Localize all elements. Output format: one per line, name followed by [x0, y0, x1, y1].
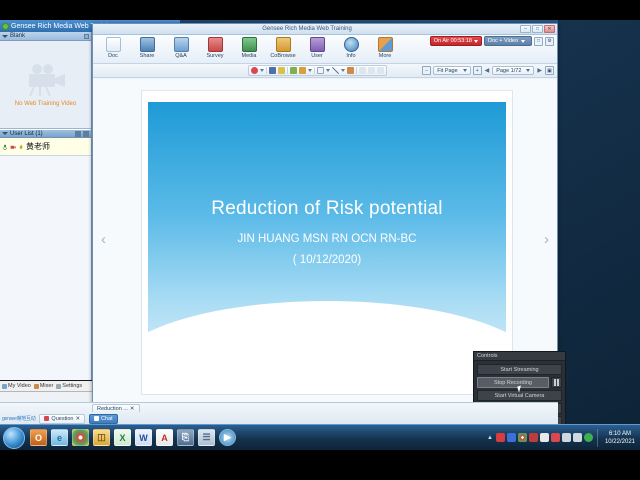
slide-date: ( 10/12/2020) [148, 254, 506, 266]
settings-dock-icon [56, 384, 61, 389]
toolbar-item-survey[interactable]: Survey [198, 36, 232, 59]
text-icon[interactable] [299, 67, 306, 74]
toolbar-label-info: Info [346, 53, 355, 59]
chat-tab-label: Chat [101, 416, 113, 422]
highlighter-icon[interactable] [278, 67, 285, 74]
prev-page-button[interactable]: ◀ [484, 67, 491, 74]
zoom-select[interactable]: Fit Page [433, 66, 470, 75]
hand-raise-icon[interactable] [18, 144, 24, 150]
mic-icon[interactable] [2, 144, 8, 150]
zoom-select-value: Fit Page [437, 68, 457, 74]
camera-icon[interactable] [10, 144, 16, 150]
pointer-icon[interactable] [251, 67, 258, 74]
toolbar-item-doc[interactable]: Doc [96, 36, 130, 59]
obs-dock-mixer[interactable]: Mixer [34, 383, 53, 389]
presentation-slide: Reduction of Risk potential JIN HUANG MS… [148, 102, 506, 357]
eraser-icon[interactable] [290, 67, 297, 74]
clock-date: 10/22/2021 [605, 438, 635, 446]
toolbar-label-qa: Q&A [175, 53, 187, 59]
media-player-icon[interactable]: ▶ [219, 429, 236, 446]
clock[interactable]: 6:10 AM 10/22/2021 [602, 430, 638, 446]
on-air-badge[interactable]: On Air 00:53:18 [430, 36, 482, 46]
user-list-header[interactable]: User List (1) [0, 129, 91, 138]
toolbar-item-media[interactable]: Media [232, 36, 266, 59]
close-button[interactable]: ✕ [544, 25, 555, 33]
clear-icon[interactable] [377, 67, 384, 74]
chevron-down-icon [474, 40, 478, 43]
more-grid-icon [378, 37, 393, 52]
skype-icon[interactable] [584, 433, 593, 442]
main-window-titlebar[interactable]: Gensee Rich Media Web Training – □ ✕ [93, 24, 557, 35]
cobrowse-icon [276, 37, 291, 52]
pen-icon[interactable] [269, 67, 276, 74]
chevron-down-icon [463, 69, 467, 72]
toolbar-label-cobrowse: CoBrowse [270, 53, 295, 59]
question-tab-label: Question [51, 416, 73, 422]
volume-icon[interactable] [573, 433, 582, 442]
user-name-label: 黄老师 [26, 141, 50, 152]
layout-select[interactable]: Doc + Video [484, 36, 532, 46]
toolbar-item-more[interactable]: More [368, 36, 402, 59]
mixer-dock-icon [34, 384, 39, 389]
network-icon[interactable] [562, 433, 571, 442]
obs-tray-icon[interactable] [529, 433, 538, 442]
internet-explorer-icon[interactable]: e [51, 429, 68, 446]
blank-panel-header[interactable]: Blank [0, 32, 91, 41]
bluetooth-icon[interactable] [507, 433, 516, 442]
slide-next-chevron[interactable]: › [544, 231, 549, 248]
minimize-icon[interactable] [84, 34, 89, 39]
start-streaming-button[interactable]: Start Streaming [477, 364, 562, 375]
arrow-icon[interactable] [347, 67, 354, 74]
toolbar-item-user[interactable]: User [300, 36, 334, 59]
blank-panel-label: Blank [10, 33, 25, 39]
app-tray-icon[interactable] [551, 433, 560, 442]
outlook-icon[interactable]: O [30, 429, 47, 446]
slide-prev-chevron[interactable]: ‹ [101, 231, 106, 248]
media-play-icon [242, 37, 257, 52]
letterbox-top [0, 0, 640, 20]
info-icon [344, 37, 359, 52]
obs-dock-strip: My Video Mixer Settings [0, 380, 92, 402]
toolbar-item-share[interactable]: Share [130, 36, 164, 59]
obs-dock-mixer-label: Mixer [40, 383, 53, 389]
toolbar-label-share: Share [140, 53, 155, 59]
close-icon[interactable]: ✕ [75, 416, 80, 422]
gensee-tray-icon[interactable] [540, 433, 549, 442]
gensee-main-window: Gensee Rich Media Web Training – □ ✕ Doc… [92, 23, 558, 407]
toolbar-label-more: More [379, 53, 392, 59]
toolbar-item-cobrowse[interactable]: CoBrowse [266, 36, 300, 59]
divider [266, 67, 267, 74]
obs-dock-settings-label: Settings [62, 383, 82, 389]
desktop-right-region [558, 20, 640, 424]
toolbar-item-info[interactable]: Info [334, 36, 368, 59]
divider [356, 67, 357, 74]
user-list-row[interactable]: 黄老师 [0, 138, 91, 156]
page-select-value: Page 1/72 [496, 68, 521, 74]
main-window-title: Gensee Rich Media Web Training [95, 26, 519, 32]
clock-time: 6:10 AM [605, 430, 635, 438]
share-screen-icon [140, 37, 155, 52]
pause-icon [557, 379, 559, 386]
pause-recording-button[interactable] [551, 377, 562, 388]
document-page: Reduction of Risk potential JIN HUANG MS… [141, 90, 513, 395]
file-explorer-icon[interactable]: ◫ [93, 429, 110, 446]
no-video-label: No Web Training Video [15, 101, 76, 107]
document-icon [106, 37, 121, 52]
left-panel-empty-area [0, 156, 91, 396]
user-icon [310, 37, 325, 52]
pause-icon [554, 379, 556, 386]
obs-dock-my-video[interactable]: My Video [2, 383, 31, 389]
left-panel: Blank No Web Training Video User List (1… [0, 32, 92, 410]
fullscreen-icon[interactable]: □ [534, 37, 543, 46]
printer-icon[interactable]: ⎘ [177, 429, 194, 446]
gensee-logo-text: gensee [2, 416, 17, 422]
chat-tab[interactable]: Chat [89, 414, 118, 424]
on-air-label: On Air 00:53:18 [434, 38, 472, 44]
status-cluster: On Air 00:53:18 Doc + Video □ ⚙ [430, 36, 554, 46]
gensee-logo-icon [2, 23, 9, 30]
chevron-down-icon[interactable] [341, 69, 345, 72]
page-select[interactable]: Page 1/72 [492, 66, 534, 75]
main-toolbar: Doc Share Q&A Survey Media CoBrowse [93, 35, 557, 64]
toolbar-item-qa[interactable]: Q&A [164, 36, 198, 59]
obs-controls-title: Controls [474, 352, 565, 361]
chevron-down-icon [2, 132, 8, 135]
slide-author: JIN HUANG MSN RN OCN RN-BC [148, 233, 506, 245]
chevron-down-icon[interactable] [308, 69, 312, 72]
stop-recording-button[interactable]: Stop Recording [477, 377, 549, 388]
divider [314, 67, 315, 74]
system-tray: ▲ 6:10 AM 10/22/2021 [486, 425, 640, 451]
show-hidden-icons-button[interactable]: ▲ [486, 435, 494, 441]
gensee-logo-sub: 席地互动 [17, 416, 36, 422]
slide-title: Reduction of Risk potential [148, 198, 506, 220]
line-icon[interactable] [332, 67, 339, 74]
zoom-page-cluster: − Fit Page + ◀ Page 1/72 ▶ ▣ [422, 65, 554, 76]
survey-chart-icon [208, 37, 223, 52]
letterbox-bottom [0, 450, 640, 480]
obs-dock-settings[interactable]: Settings [56, 383, 82, 389]
video-camera-icon [24, 62, 68, 98]
zoom-in-icon[interactable]: + [473, 66, 482, 75]
layout-select-value: Doc + Video [488, 38, 518, 44]
divider [287, 67, 288, 74]
slide-wave-front [148, 301, 506, 357]
next-page-button[interactable]: ▶ [536, 67, 543, 74]
question-tab[interactable]: Question ✕ [39, 414, 85, 424]
chevron-down-icon [526, 69, 530, 72]
document-tab-strip: Reduction ... ✕ [92, 403, 140, 412]
maximize-button[interactable]: □ [532, 25, 543, 33]
undo-icon[interactable] [359, 67, 366, 74]
notepad-icon[interactable]: ☰ [198, 429, 215, 446]
toolbar-label-user: User [311, 53, 323, 59]
document-toolbar: − Fit Page + ◀ Page 1/72 ▶ ▣ [93, 64, 557, 78]
screen-root: Gensee Rich Media Web Training Blank No … [0, 0, 640, 480]
minimize-button[interactable]: – [520, 25, 531, 33]
word-icon[interactable]: W [135, 429, 152, 446]
user-list-label: User List (1) [10, 131, 43, 137]
divider [597, 429, 598, 447]
chevron-down-icon [2, 35, 8, 38]
gensee-bottom-bar: Reduction ... ✕ gensee席地互动 Question ✕ Ch… [0, 402, 558, 424]
invite-user-icon[interactable] [75, 131, 81, 137]
video-dock-icon [2, 384, 7, 389]
acrobat-icon[interactable]: A [156, 429, 173, 446]
document-tab-reduction[interactable]: Reduction ... ✕ [92, 404, 140, 412]
chevron-down-icon[interactable] [326, 69, 330, 72]
chat-icon [94, 416, 99, 421]
qa-icon [174, 37, 189, 52]
toolbar-label-doc: Doc [108, 53, 118, 59]
question-icon [44, 416, 49, 421]
chrome-icon[interactable] [72, 429, 89, 446]
gensee-logo: gensee席地互动 [2, 415, 35, 422]
rectangle-icon[interactable] [317, 67, 324, 74]
toolbar-label-survey: Survey [206, 53, 223, 59]
obs-dock-my-video-label: My Video [8, 383, 31, 389]
redo-icon[interactable] [368, 67, 375, 74]
obs-dock-row: My Video Mixer Settings [0, 381, 92, 392]
chrome-tray-icon[interactable] [518, 433, 527, 442]
fit-width-icon[interactable]: ▣ [545, 66, 554, 75]
chevron-down-icon [521, 40, 525, 43]
windows-taskbar: O e ◫ X W A ⎘ ☰ ▶ ▲ 6:10 AM 10/22/2021 [0, 424, 640, 450]
toolbar-label-media: Media [242, 53, 257, 59]
zoom-out-icon[interactable]: − [422, 66, 431, 75]
excel-icon[interactable]: X [114, 429, 131, 446]
antivirus-icon[interactable] [496, 433, 505, 442]
video-placeholder-area: No Web Training Video [0, 41, 91, 129]
start-button[interactable] [3, 427, 25, 449]
gear-icon[interactable]: ⚙ [545, 37, 554, 46]
annotation-toolbar [248, 65, 387, 76]
chevron-down-icon[interactable] [260, 69, 264, 72]
user-settings-icon[interactable] [83, 131, 89, 137]
